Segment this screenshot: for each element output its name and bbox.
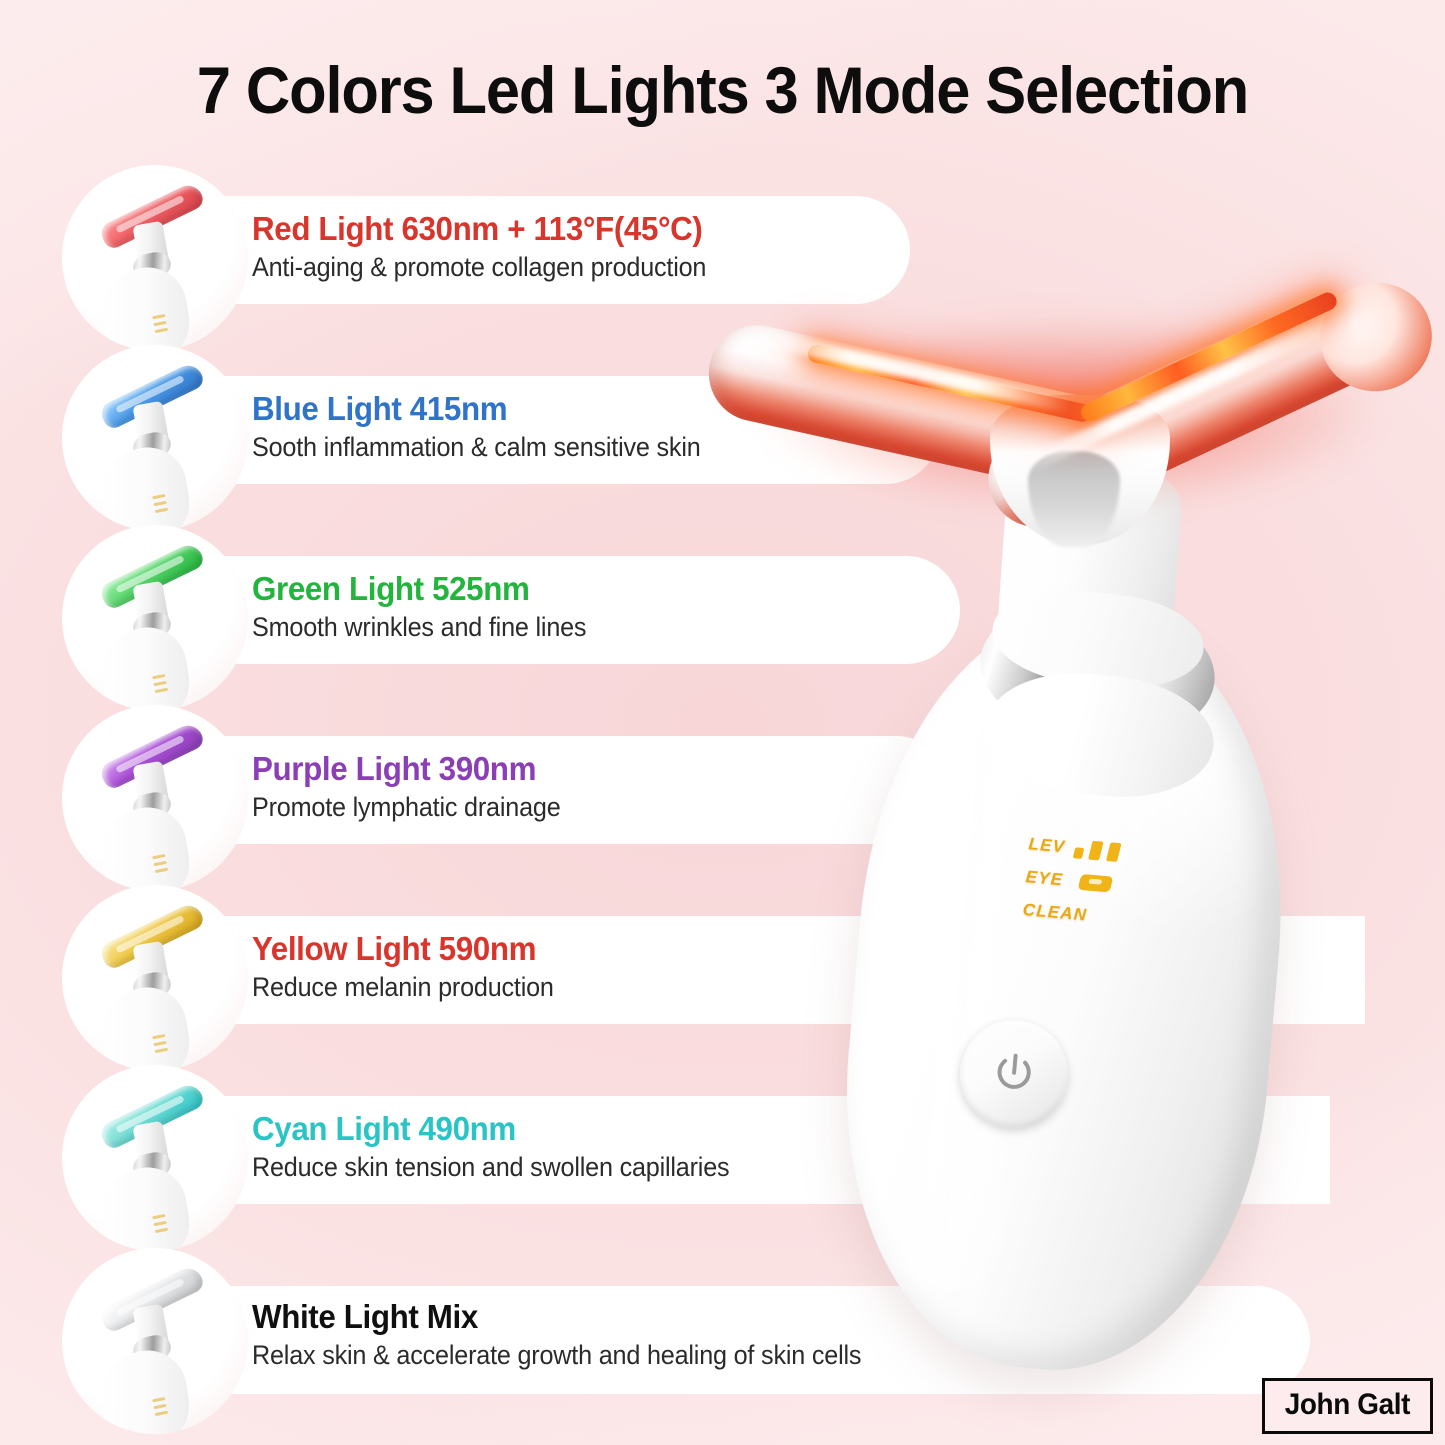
mini-body xyxy=(95,442,195,531)
device-control-panel: LEV EYE CLEAN xyxy=(1021,834,1120,941)
device-blue-icon xyxy=(62,345,248,531)
brand-logo: John Galt xyxy=(1262,1378,1433,1434)
level-bars-icon xyxy=(1073,839,1119,862)
feature-subtitle: Anti-aging & promote collagen production xyxy=(252,253,706,283)
device-purple-icon xyxy=(62,705,248,891)
feature-text: Blue Light 415nm Sooth inflammation & ca… xyxy=(252,392,724,463)
device-green-icon xyxy=(62,525,248,711)
page-title: 7 Colors Led Lights 3 Mode Selection xyxy=(51,52,1395,128)
feature-text: Red Light 630nm + 113°F(45°C) Anti-aging… xyxy=(252,212,730,283)
eye-mode-row: EYE xyxy=(1025,867,1117,895)
feature-subtitle: Smooth wrinkles and fine lines xyxy=(252,613,586,643)
level-label: LEV xyxy=(1028,834,1066,857)
product-device-image: LEV EYE CLEAN xyxy=(700,255,1440,1415)
brand-name: John Galt xyxy=(1285,1388,1410,1422)
mini-body xyxy=(95,1345,195,1434)
device-red-icon xyxy=(62,165,248,351)
feature-subtitle: Promote lymphatic drainage xyxy=(252,793,561,823)
mini-body xyxy=(95,622,195,711)
feature-subtitle: Reduce skin tension and swollen capillar… xyxy=(252,1153,729,1183)
feature-title: Cyan Light 490nm xyxy=(252,1112,729,1146)
mini-body xyxy=(95,982,195,1071)
device-white-icon xyxy=(62,1248,248,1434)
feature-title: Yellow Light 590nm xyxy=(252,932,554,966)
feature-subtitle: Sooth inflammation & calm sensitive skin xyxy=(252,433,701,463)
device-cyan-icon xyxy=(62,1065,248,1251)
device-yellow-icon xyxy=(62,885,248,1071)
eye-indicator-icon xyxy=(1077,874,1113,893)
eye-label: EYE xyxy=(1025,867,1064,890)
feature-title: Green Light 525nm xyxy=(252,572,586,606)
feature-title: Red Light 630nm + 113°F(45°C) xyxy=(252,212,706,246)
feature-text: Purple Light 390nm Promote lymphatic dra… xyxy=(252,752,577,823)
mini-body xyxy=(95,1162,195,1251)
device-head xyxy=(690,255,1445,585)
mini-body xyxy=(95,262,195,351)
clean-mode-row: CLEAN xyxy=(1022,900,1114,928)
feature-text: Green Light 525nm Smooth wrinkles and fi… xyxy=(252,572,604,643)
feature-title: Blue Light 415nm xyxy=(252,392,701,426)
feature-title: Purple Light 390nm xyxy=(252,752,561,786)
power-icon xyxy=(987,1047,1041,1101)
feature-text: Yellow Light 590nm Reduce melanin produc… xyxy=(252,932,570,1003)
mini-body xyxy=(95,802,195,891)
feature-subtitle: Reduce melanin production xyxy=(252,973,554,1003)
feature-text: Cyan Light 490nm Reduce skin tension and… xyxy=(252,1112,755,1183)
clean-label: CLEAN xyxy=(1022,900,1088,926)
